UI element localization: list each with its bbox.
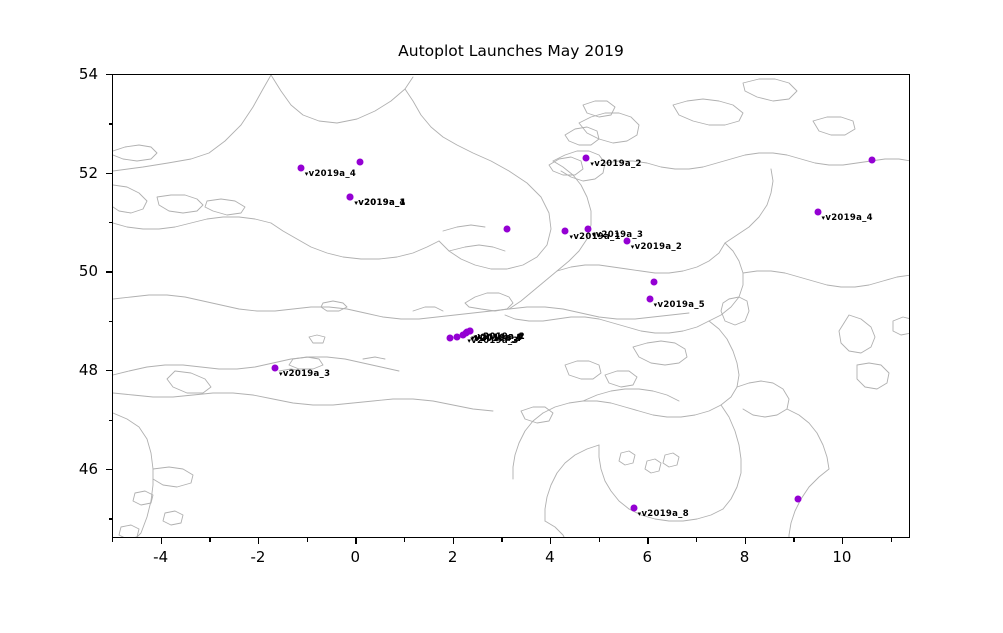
y-axis-minor-tick	[109, 321, 113, 322]
x-axis-tick-label: 4	[545, 548, 555, 566]
y-axis-tick-label: 46	[79, 460, 98, 478]
x-axis-tick	[453, 538, 454, 544]
data-point-label: ▾v2019a_2	[631, 242, 682, 252]
y-axis-tick-label: 52	[79, 164, 98, 182]
x-axis-tick	[842, 538, 843, 544]
page-title: Autoplot Launches May 2019	[112, 42, 910, 60]
data-point-label: ▾v2019a_5	[654, 300, 705, 310]
data-point-label: ▾v2019a_3	[592, 230, 643, 240]
map-coastlines	[113, 75, 910, 538]
data-point-marker[interactable]	[357, 158, 364, 165]
y-axis-minor-tick	[109, 518, 113, 519]
data-point-label-text: v2019a_4	[309, 169, 357, 179]
x-axis-tick-label: 0	[351, 548, 361, 566]
y-axis-tick	[106, 74, 112, 75]
x-axis-minor-tick	[891, 538, 892, 542]
data-point-label-text: v2019a_3	[283, 369, 331, 379]
data-point-label: ▾v2019a_2	[590, 159, 641, 169]
data-point-label-text: v2019a_2	[635, 242, 683, 252]
data-point-marker[interactable]	[795, 496, 802, 503]
data-point-marker[interactable]	[297, 164, 304, 171]
data-point-label: ▾v2019a_4	[822, 213, 873, 223]
data-point-label: ▾v2019a_1	[354, 198, 405, 208]
data-point-label-text: v2019a_8	[641, 509, 689, 519]
x-axis-tick	[647, 538, 648, 544]
x-axis-minor-tick	[112, 538, 113, 542]
map-plot-area	[112, 74, 910, 538]
x-axis-minor-tick	[307, 538, 308, 542]
y-axis-tick-label: 48	[79, 361, 98, 379]
data-point-label-text: v2019a_4	[825, 213, 873, 223]
data-point-label-text: v2019a_5	[658, 300, 706, 310]
matplotlib-figure: Autoplot Launches May 2019	[0, 0, 1003, 633]
data-point-marker[interactable]	[869, 157, 876, 164]
data-point-label: ▾v2019a_8	[638, 509, 689, 519]
data-point-label-text: v2019a_3	[596, 230, 644, 240]
x-axis-tick	[258, 538, 259, 544]
y-axis-tick	[106, 469, 112, 470]
data-point-marker[interactable]	[447, 335, 454, 342]
y-axis-tick-label: 54	[79, 65, 98, 83]
data-point-label: ▾v2019a_3	[279, 369, 330, 379]
data-point-marker[interactable]	[650, 279, 657, 286]
data-point-label: ▾v2019a_4	[305, 169, 356, 179]
x-axis-minor-tick	[209, 538, 210, 542]
x-axis-tick	[355, 538, 356, 544]
x-axis-minor-tick	[404, 538, 405, 542]
x-axis-tick	[745, 538, 746, 544]
y-axis-tick	[106, 173, 112, 174]
data-point-marker[interactable]	[504, 226, 511, 233]
x-axis-tick-label: 10	[832, 548, 851, 566]
x-axis-tick	[550, 538, 551, 544]
data-point-marker[interactable]	[454, 333, 461, 340]
data-point-marker[interactable]	[814, 209, 821, 216]
data-point-marker[interactable]	[646, 295, 653, 302]
y-axis-minor-tick	[109, 420, 113, 421]
data-point-marker[interactable]	[584, 226, 591, 233]
y-axis-minor-tick	[109, 123, 113, 124]
data-point-marker[interactable]	[272, 364, 279, 371]
y-axis-minor-tick	[109, 222, 113, 223]
y-axis-tick	[106, 370, 112, 371]
x-axis-minor-tick	[793, 538, 794, 542]
data-point-marker[interactable]	[347, 194, 354, 201]
data-point-marker[interactable]	[583, 154, 590, 161]
x-axis-tick	[161, 538, 162, 544]
data-point-label-text: v2019a_2	[594, 159, 642, 169]
y-axis-tick-label: 50	[79, 262, 98, 280]
x-axis-tick-label: -4	[153, 548, 168, 566]
x-axis-tick-label: -2	[250, 548, 265, 566]
x-axis-minor-tick	[696, 538, 697, 542]
x-axis-minor-tick	[599, 538, 600, 542]
y-axis-tick	[106, 271, 112, 272]
data-point-label: ▾v2019a_3	[467, 336, 518, 346]
data-point-marker[interactable]	[630, 505, 637, 512]
data-point-label-text: v2019a_1	[358, 198, 406, 208]
x-axis-tick-label: 8	[740, 548, 750, 566]
x-axis-minor-tick	[501, 538, 502, 542]
data-point-marker[interactable]	[562, 227, 569, 234]
x-axis-tick-label: 6	[642, 548, 652, 566]
x-axis-tick-label: 2	[448, 548, 458, 566]
data-point-marker[interactable]	[623, 237, 630, 244]
data-point-label-text: v2019a_3	[471, 336, 519, 346]
